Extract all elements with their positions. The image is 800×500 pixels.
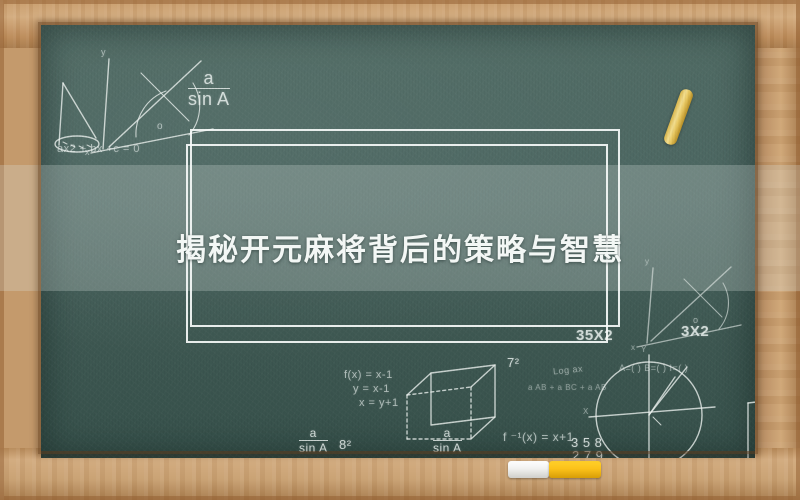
seven-squared-note: 7² xyxy=(507,355,520,370)
axis-label-x-right: x xyxy=(631,343,636,352)
matrix-row-note: A=( ) B=( ) I=( ) xyxy=(619,363,688,373)
axis-label-y: y xyxy=(101,47,106,57)
circle-axis-x-label: X xyxy=(583,407,589,416)
axis-label-x: x xyxy=(85,147,90,157)
circle-axis-y-label: Y xyxy=(641,345,647,354)
function-y-note: y = x-1 xyxy=(353,383,390,395)
abc-note: a AB + a BC + a AB xyxy=(528,383,607,392)
tray-chalk-yellow xyxy=(549,461,601,478)
cube-sketch-right xyxy=(748,395,755,458)
fraction-a-over-sinA: a sin A xyxy=(188,69,230,109)
eight-squared-note: 8² xyxy=(339,437,352,452)
cone-sketch xyxy=(55,83,99,152)
inverse-function-note: f ⁻¹(x) = x+1 xyxy=(503,430,574,444)
function-fx-note: f(x) = x-1 xyxy=(344,369,393,381)
expression-3x2: 3X2 xyxy=(681,323,709,340)
tray-chalk-white xyxy=(508,461,549,478)
fraction-a-over-sinA-center: a sin A xyxy=(433,427,462,454)
quadratic-equation-note: ax2 + bx +c = 0 xyxy=(57,143,140,155)
addition-line-2: 2 7 9 xyxy=(572,448,603,458)
page-title: 揭秘开元麻将背后的策略与智慧 xyxy=(0,225,800,269)
chalkboard-banner: a sin A ax2 + bx +c = 0 y x o y x o 35X2… xyxy=(0,0,800,500)
fraction-a-over-sinA-left: a sin A xyxy=(299,427,328,454)
alog-bc-note: a log (bc) xyxy=(493,457,536,458)
angle-label-o: o xyxy=(157,121,163,132)
function-x-note: x = y+1 xyxy=(359,397,399,409)
